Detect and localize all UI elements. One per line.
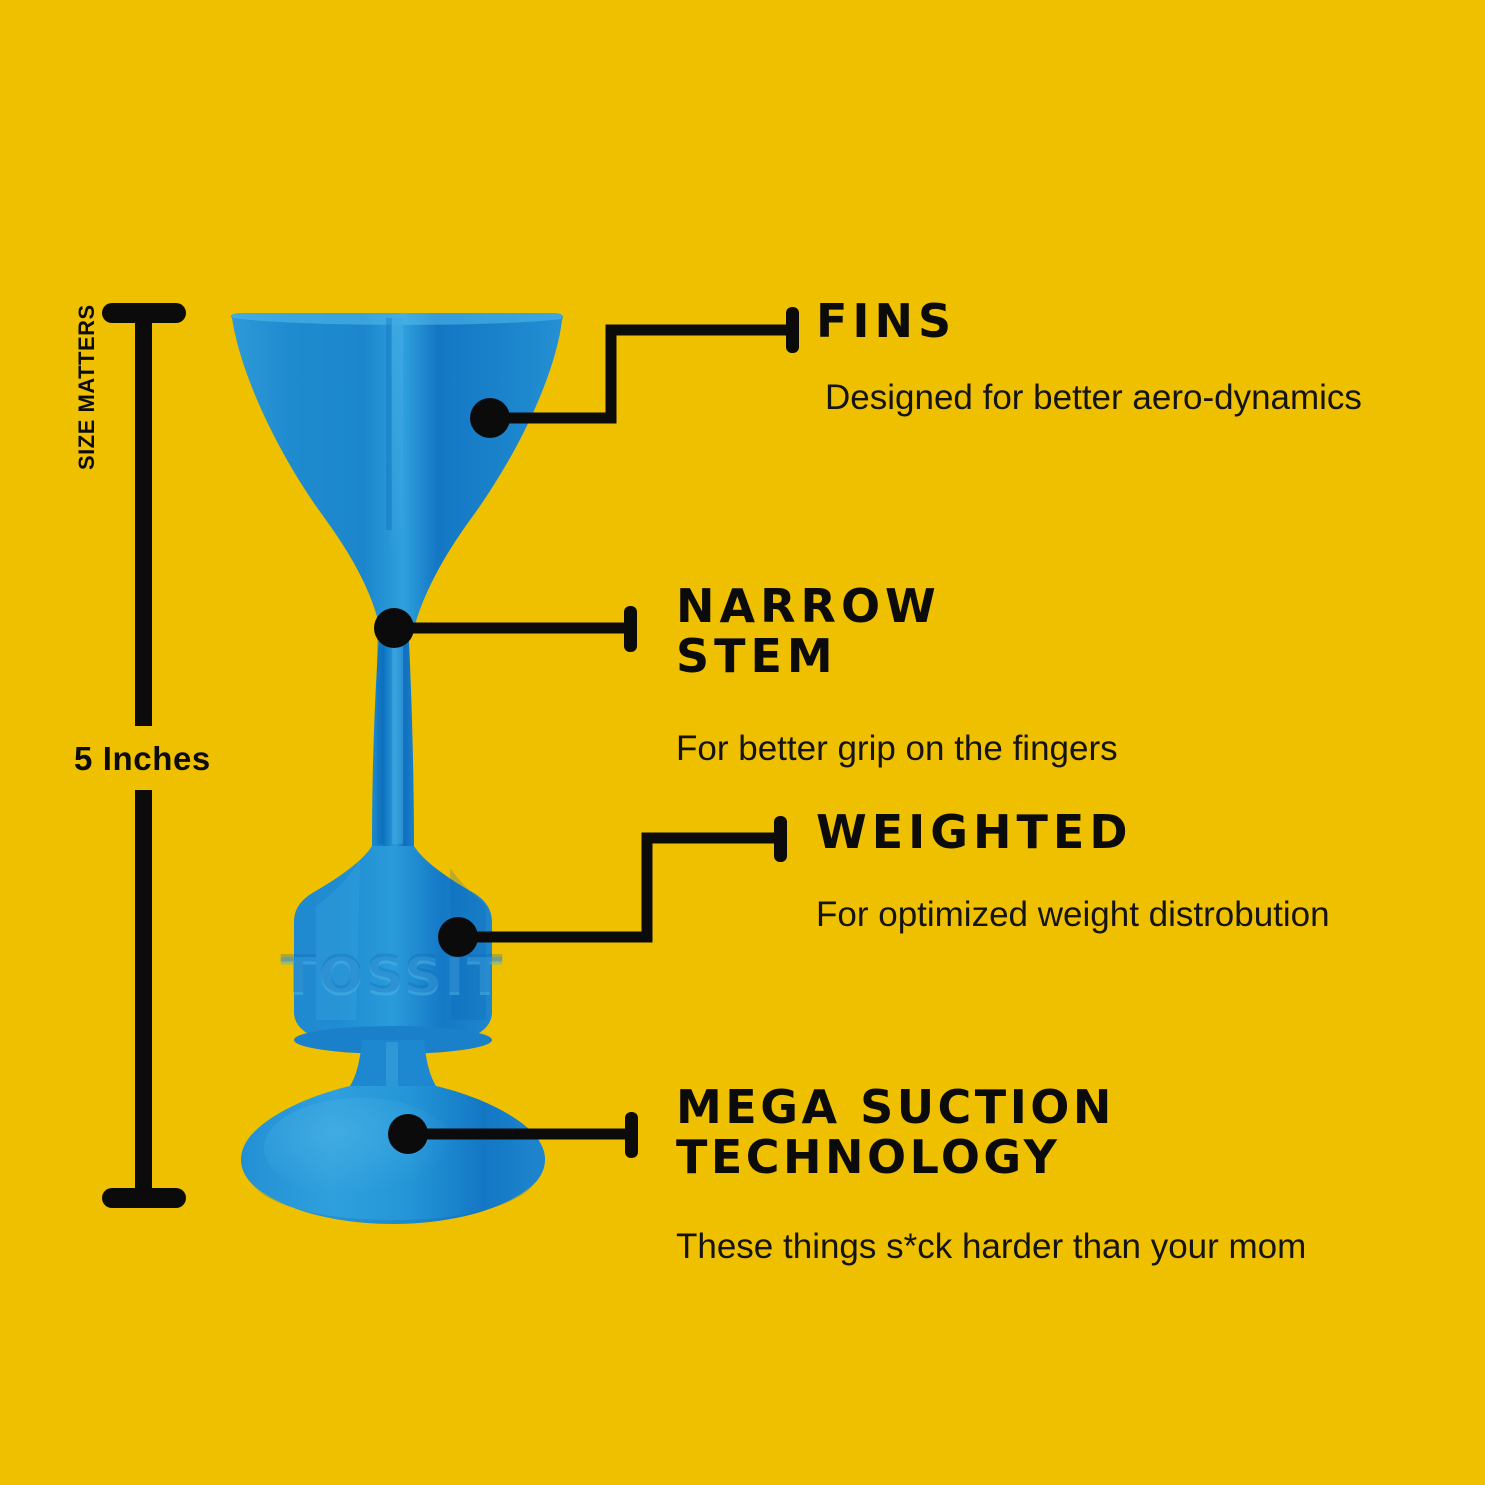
callout-weighted: WEIGHTED For optimized weight distrobuti…	[816, 808, 1330, 935]
callout-narrow-stem: NARROW STEM For better grip on the finge…	[676, 582, 1118, 770]
connector-narrow-stem	[374, 606, 637, 652]
connector-fins	[470, 307, 799, 438]
callout-mega-suction-title: MEGA SUCTION TECHNOLOGY	[676, 1083, 1306, 1182]
callout-fins-title: FINS	[816, 297, 1362, 347]
connector-mega-suction	[388, 1112, 638, 1158]
callout-fins-subtitle: Designed for better aero-dynamics	[825, 378, 1362, 418]
callout-mega-suction: MEGA SUCTION TECHNOLOGY These things s*c…	[676, 1083, 1306, 1268]
callout-fins: FINS Designed for better aero-dynamics	[816, 297, 1362, 418]
infographic-canvas: TOSSIT TOSSIT SIZE MATTERS 5 Inches	[0, 0, 1485, 1485]
callout-weighted-subtitle: For optimized weight distrobution	[816, 895, 1330, 935]
callout-weighted-title: WEIGHTED	[816, 808, 1330, 858]
callout-narrow-stem-subtitle: For better grip on the fingers	[676, 729, 1118, 769]
callout-mega-suction-subtitle: These things s*ck harder than your mom	[676, 1227, 1306, 1267]
connector-weighted	[438, 816, 787, 957]
callout-narrow-stem-title: NARROW STEM	[676, 582, 1118, 681]
